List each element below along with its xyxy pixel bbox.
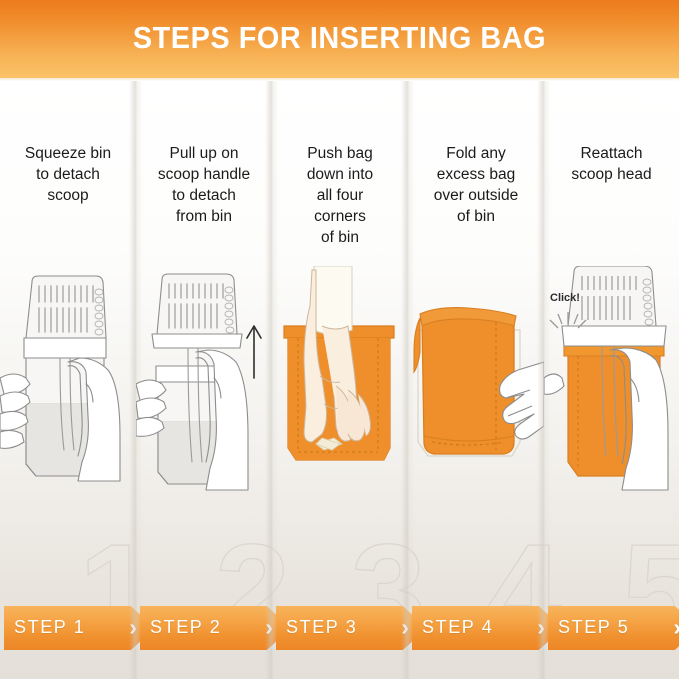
caption-line: of bin <box>272 227 408 248</box>
caption-line: Squeeze bin <box>0 143 136 164</box>
step-panel-3: Push bag down into all four corners of b… <box>272 81 408 679</box>
hand-pushing-bag-into-bin-corners-icon <box>272 266 408 496</box>
hand-pulling-scoop-up-from-bin-icon <box>136 266 272 496</box>
step-caption-3: Push bag down into all four corners of b… <box>272 143 408 248</box>
hand-folding-bag-over-bin-outside-icon <box>408 266 544 496</box>
step-caption-4: Fold any excess bag over outside of bin <box>408 143 544 227</box>
caption-line: scoop head <box>544 164 679 185</box>
step-ribbon-1[interactable]: STEP 1 › <box>4 606 155 650</box>
caption-line: all four <box>272 185 408 206</box>
caption-line: to detach <box>136 185 272 206</box>
page-title: STEPS FOR INSERTING BAG <box>24 20 655 56</box>
step-caption-1: Squeeze bin to detach scoop <box>0 143 136 206</box>
caption-line: Pull up on <box>136 143 272 164</box>
caption-line: Reattach <box>544 143 679 164</box>
illustration-step-3 <box>272 266 408 496</box>
step-panel-5: Reattach scoop head <box>544 81 679 679</box>
step-ribbon-label: STEP 1 <box>14 617 85 638</box>
click-annotation: Click! <box>550 292 580 304</box>
caption-line: excess bag <box>408 164 544 185</box>
step-panel-4: Fold any excess bag over outside of bin <box>408 81 544 679</box>
caption-line: to detach <box>0 164 136 185</box>
caption-line: scoop <box>0 185 136 206</box>
caption-line: from bin <box>136 206 272 227</box>
step-ribbon-4[interactable]: STEP 4 › <box>412 606 563 650</box>
caption-line: corners <box>272 206 408 227</box>
step-ribbon-3[interactable]: STEP 3 › <box>276 606 427 650</box>
illustration-step-5: Click! <box>544 266 679 496</box>
caption-line: over outside <box>408 185 544 206</box>
step-caption-5: Reattach scoop head <box>544 143 679 185</box>
step-caption-2: Pull up on scoop handle to detach from b… <box>136 143 272 227</box>
illustration-step-1 <box>0 266 136 496</box>
instruction-poster: STEPS FOR INSERTING BAG Squeeze bin to d… <box>0 0 679 679</box>
steps-panel-area: Squeeze bin to detach scoop <box>0 81 679 679</box>
step-ribbon-2[interactable]: STEP 2 › <box>140 606 291 650</box>
caption-line: scoop handle <box>136 164 272 185</box>
step-ribbon-label: STEP 3 <box>286 617 357 638</box>
step-ribbon-label: STEP 4 <box>422 617 493 638</box>
hand-squeezing-bin-with-scoop-icon <box>0 266 136 496</box>
illustration-step-2 <box>136 266 272 496</box>
illustration-step-4 <box>408 266 544 496</box>
step-panel-1: Squeeze bin to detach scoop <box>0 81 136 679</box>
caption-line: down into <box>272 164 408 185</box>
caption-line: Fold any <box>408 143 544 164</box>
step-ribbon-label: STEP 2 <box>150 617 221 638</box>
header-banner: STEPS FOR INSERTING BAG <box>0 0 679 78</box>
step-panel-2: Pull up on scoop handle to detach from b… <box>136 81 272 679</box>
step-ribbon-5[interactable]: STEP 5 › <box>548 606 679 650</box>
caption-line: of bin <box>408 206 544 227</box>
chevron-right-icon: › <box>673 615 679 639</box>
caption-line: Push bag <box>272 143 408 164</box>
step-ribbon-label: STEP 5 <box>558 617 629 638</box>
